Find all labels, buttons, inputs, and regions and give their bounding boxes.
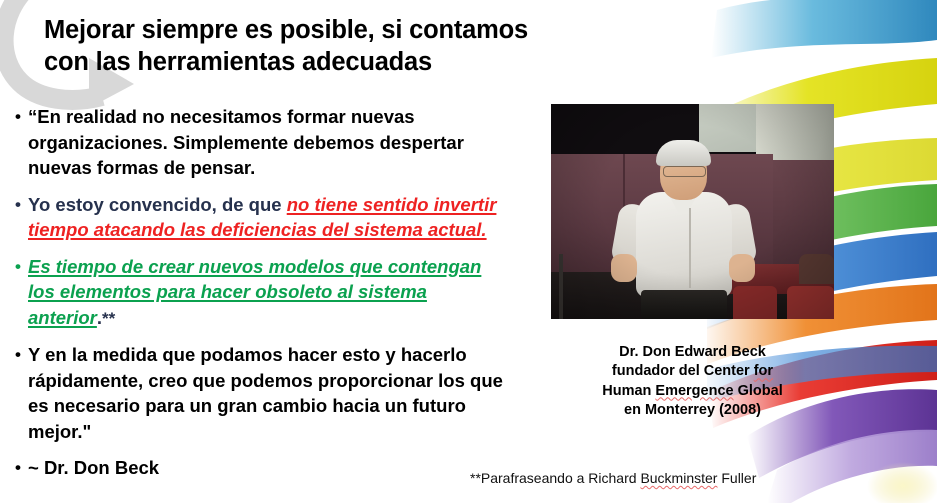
bullet-list: • “En realidad no necesitamos formar nue… (8, 104, 508, 492)
list-item: • Yo estoy convencido, de que no tiene s… (8, 192, 508, 243)
caption-line-2-text: fundador del Center (612, 363, 754, 379)
caption-line-1: Dr. Don Edward Beck (551, 343, 834, 362)
footnote-text-lead: **Parafraseando a Richard (470, 470, 640, 486)
bullet-marker: • (8, 192, 28, 217)
caption-misspelled-word: for (754, 363, 773, 379)
bullet-text: Yo estoy convencido, de que no tiene sen… (28, 192, 508, 243)
bullet-text: ~ Dr. Don Beck (28, 455, 508, 481)
slide-canvas: Mejorar siempre es posible, si contamos … (0, 0, 937, 503)
slide-title: Mejorar siempre es posible, si contamos … (44, 14, 624, 78)
bullet-marker: • (8, 342, 28, 367)
bullet-text: Es tiempo de crear nuevos modelos que co… (28, 254, 508, 332)
bullet-text: Y en la medida que podamos hacer esto y … (28, 342, 508, 444)
speaker-photo (551, 104, 834, 319)
slide-title-line-1: Mejorar siempre es posible, si contamos (44, 14, 624, 46)
footnote-marker: ** (102, 309, 115, 328)
bullet-text: “En realidad no necesitamos formar nueva… (28, 104, 508, 181)
photo-caption: Dr. Don Edward Beck fundador del Center … (551, 343, 834, 420)
footnote: **Parafraseando a Richard Buckminster Fu… (470, 470, 870, 486)
slide-title-line-2: con las herramientas adecuadas (44, 46, 624, 78)
bullet-marker: • (8, 254, 28, 279)
footnote-misspelled-word: Buckminster (640, 470, 717, 486)
bullet-marker: • (8, 455, 28, 480)
caption-misspelled-word: Emergence (655, 383, 733, 399)
photo-vignette (551, 104, 834, 319)
caption-line-3-text: Human (602, 383, 655, 399)
list-item: • “En realidad no necesitamos formar nue… (8, 104, 508, 181)
caption-line-3-tail: Global (734, 383, 783, 399)
caption-line-2: fundador del Center for (551, 362, 834, 381)
caption-line-4: en Monterrey (2008) (551, 401, 834, 420)
footnote-text-tail: Fuller (717, 470, 756, 486)
caption-line-3: Human Emergence Global (551, 382, 834, 401)
bullet-lead-text: Yo estoy convencido, de que (28, 194, 287, 215)
bullet-marker: • (8, 104, 28, 129)
list-item: • ~ Dr. Don Beck (8, 455, 508, 481)
list-item: • Es tiempo de crear nuevos modelos que … (8, 254, 508, 332)
list-item: • Y en la medida que podamos hacer esto … (8, 342, 508, 444)
